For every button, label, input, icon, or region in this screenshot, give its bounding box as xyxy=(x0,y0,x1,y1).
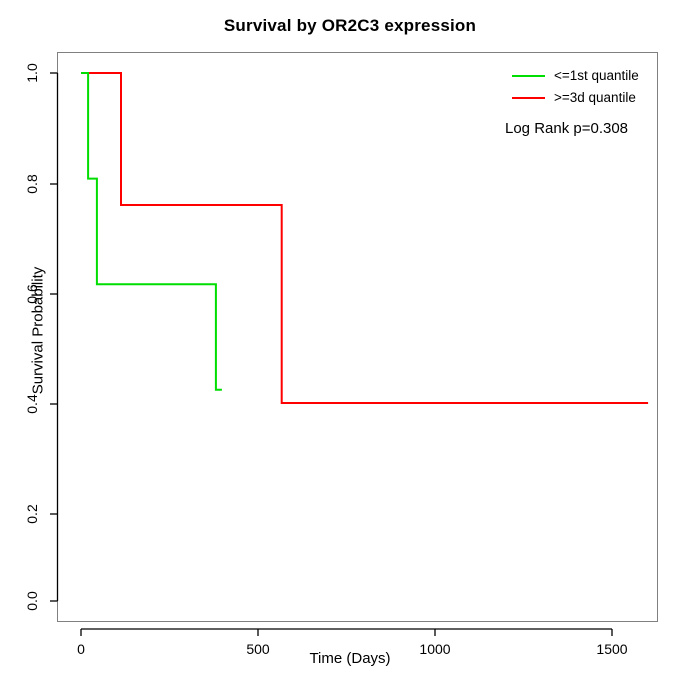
y-axis-title: Survival Probability xyxy=(30,201,47,461)
y-tick-label-0-0: 0.0 xyxy=(24,581,40,621)
y-tick-label-0-2: 0.2 xyxy=(24,494,40,534)
survival-curve-group1 xyxy=(81,73,222,390)
log-rank-pvalue: Log Rank p=0.308 xyxy=(505,120,628,137)
x-axis-title: Time (Days) xyxy=(0,650,700,667)
legend-label-group1: <=1st quantile xyxy=(554,68,639,83)
survival-plot: Survival by OR2C3 expression xyxy=(0,0,700,700)
plot-canvas xyxy=(0,0,700,700)
legend-key-lines xyxy=(512,76,545,98)
y-tick-label-1-0: 1.0 xyxy=(24,53,40,93)
y-axis-ticks xyxy=(50,73,58,601)
plot-frame xyxy=(58,53,658,622)
legend-label-group2: >=3d quantile xyxy=(554,90,636,105)
x-axis-ticks xyxy=(81,629,612,636)
y-tick-label-0-8: 0.8 xyxy=(24,164,40,204)
